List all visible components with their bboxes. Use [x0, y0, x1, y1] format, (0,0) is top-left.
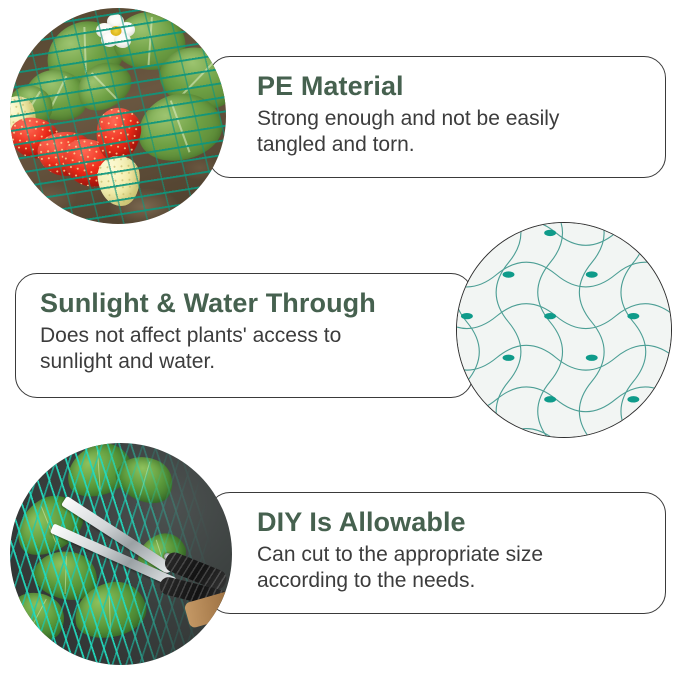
feature-title: Sunlight & Water Through	[40, 288, 376, 318]
photo-content	[10, 8, 226, 224]
feature-card-text-block: PE Material Strong enough and not be eas…	[257, 71, 559, 157]
feature-card-text-block: DIY Is Allowable Can cut to the appropri…	[257, 507, 543, 593]
netting-mesh-closeup-photo	[456, 222, 672, 438]
feature-description: Strong enough and not be easily tangled …	[257, 106, 559, 157]
feature-description: Does not affect plants' access to sunlig…	[40, 323, 376, 374]
strawberry-flower	[96, 14, 136, 48]
strawberries-under-netting-photo	[10, 8, 226, 224]
mesh-pattern	[457, 223, 671, 437]
feature-title: DIY Is Allowable	[257, 507, 543, 537]
photo-content	[10, 443, 232, 665]
feature-description: Can cut to the appropriate size accordin…	[257, 542, 543, 593]
feature-card-sunlight-water-through: Sunlight & Water Through Does not affect…	[15, 273, 473, 398]
feature-card-pe-material: PE Material Strong enough and not be eas…	[208, 56, 666, 178]
scissors-cutting-netting-photo	[10, 443, 232, 665]
infographic-canvas: PE Material Strong enough and not be eas…	[0, 0, 679, 673]
feature-card-diy-is-allowable: DIY Is Allowable Can cut to the appropri…	[208, 492, 666, 614]
feature-card-text-block: Sunlight & Water Through Does not affect…	[40, 288, 376, 374]
feature-title: PE Material	[257, 71, 559, 101]
